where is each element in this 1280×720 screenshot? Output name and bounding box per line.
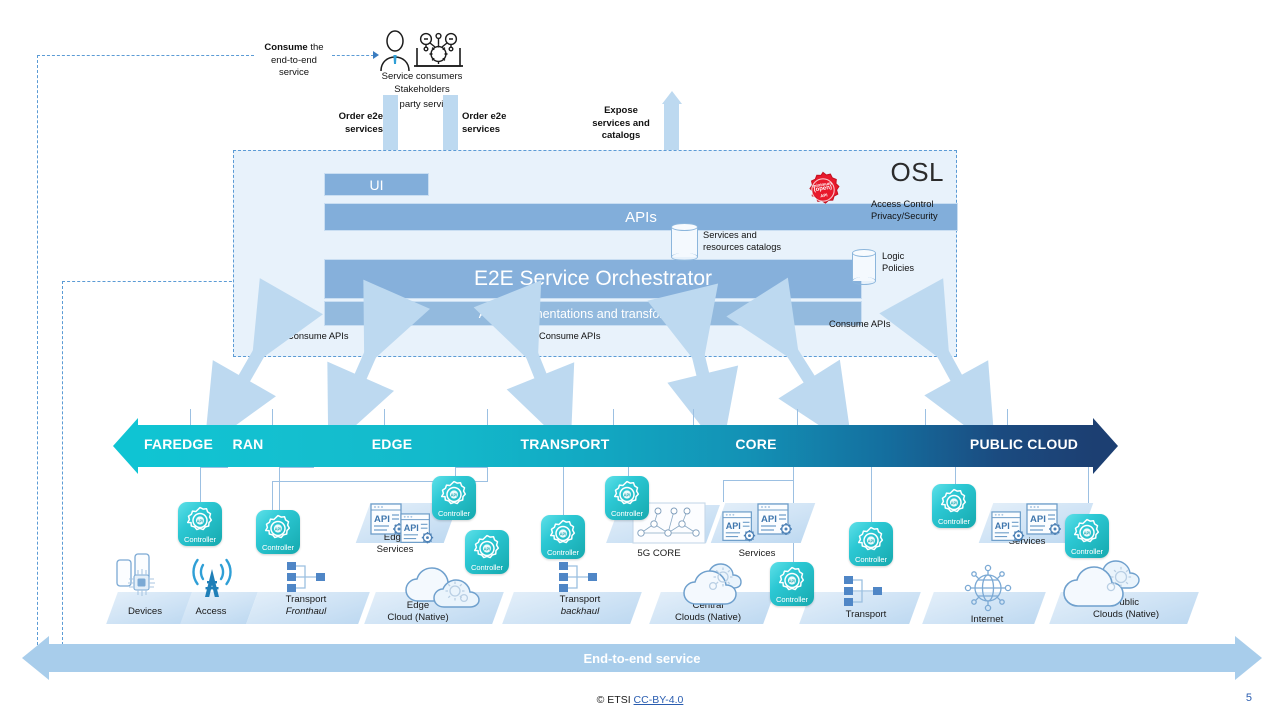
access-control-note: Access Control Privacy/Security (871, 199, 957, 222)
expose-l1: Expose (604, 105, 638, 116)
svg-text:API: API (404, 523, 419, 533)
logic-policies-note: Logic Policies (882, 251, 942, 274)
consume-e2e-l3: service (279, 67, 309, 78)
logic-line1: Logic (882, 251, 904, 261)
connector-h (279, 467, 314, 468)
svg-text:API: API (560, 532, 567, 537)
transport-switch-icon (843, 574, 885, 608)
caption-transport-core: Transport (822, 609, 910, 621)
banner-tick-above (925, 409, 926, 425)
controller-pubcloud-svc[interactable]: API Controller (932, 484, 976, 528)
consume-e2e-label: Consume the end-to-end service (254, 42, 334, 80)
api-service-card-icon: API (1026, 503, 1064, 541)
controller-5g-core[interactable]: API Controller (605, 476, 649, 520)
svg-text:API: API (374, 514, 390, 525)
api-service-card-icon: API (757, 503, 795, 541)
svg-text:API: API (197, 519, 204, 524)
caption-core-services: Services (718, 548, 796, 560)
end-to-end-service-arrow: End-to-end service (22, 636, 1262, 680)
controller-label: Controller (932, 517, 976, 526)
controller-central[interactable]: API Controller (770, 562, 814, 606)
svg-text:API: API (275, 527, 282, 532)
connector-h (487, 467, 488, 482)
footer-copyright: © ETSI (597, 694, 634, 706)
banner-tick-above (190, 409, 191, 425)
domain-label-ran[interactable]: RAN (208, 436, 288, 452)
connector-h (723, 480, 724, 502)
internet-globe-icon (957, 562, 1019, 614)
svg-text:API: API (1084, 531, 1091, 536)
api-service-card-icon: API (400, 513, 436, 549)
apis-bar[interactable]: APIs (324, 203, 958, 231)
caption-transport-fronthaul: TransportFronthaul (256, 594, 356, 618)
controller-label: Controller (432, 509, 476, 518)
controller-label: Controller (465, 563, 509, 572)
domain-banner: FAREDGE RAN EDGE TRANSPORT CORE PUBLIC C… (113, 425, 1118, 467)
controller-edge-svc[interactable]: API Controller (432, 476, 476, 520)
caption-internet: Internet (945, 614, 1029, 626)
svg-text:API: API (868, 539, 875, 544)
service-consumers-icon-group (376, 30, 468, 72)
banner-tick-above (384, 409, 385, 425)
logic-policies-db-icon (852, 249, 876, 285)
service-consumers-caption: Service consumers Stakeholders 3rd party… (355, 71, 489, 112)
domain-label-edge[interactable]: EDGE (352, 436, 432, 452)
connector-h (455, 467, 487, 468)
consume-dashed-horizontal (37, 55, 254, 56)
controller-label: Controller (1065, 547, 1109, 556)
domain-label-public-cloud[interactable]: PUBLIC CLOUD (954, 436, 1094, 452)
consume-e2e-bold: Consume (264, 42, 307, 53)
svg-text:API: API (761, 514, 777, 525)
caption-5g-core: 5G CORE (618, 548, 700, 560)
transport-switch-icon (286, 560, 328, 594)
create-dashed-horizontal (62, 281, 237, 282)
consumers-line2: Stakeholders (394, 84, 449, 95)
connector-h (279, 467, 280, 511)
slide-canvas: Consume the end-to-end service Create th… (0, 0, 1280, 720)
open-api-seal-icon: minimum (open) API (804, 171, 842, 209)
caption-access: Access (182, 606, 240, 618)
footer: © ETSI CC-BY-4.0 (0, 694, 1280, 706)
order-1-l1: Order e2e (339, 111, 383, 122)
consume-apis-label-3: Consume APIs (829, 319, 891, 331)
transport-switch-icon (558, 560, 600, 594)
controller-public-cloud[interactable]: API Controller (1065, 514, 1109, 558)
expose-l3: catalogs (602, 130, 641, 141)
connector-h (723, 480, 794, 481)
connector-h (871, 467, 872, 523)
controller-label: Controller (541, 548, 585, 557)
controller-ran[interactable]: API Controller (178, 502, 222, 546)
access-control-line2: Privacy/Security (871, 211, 938, 221)
api-service-card-icon: API (722, 511, 758, 547)
expose-l2: services and (592, 118, 650, 129)
banner-tick-above (1007, 409, 1008, 425)
domain-label-transport[interactable]: TRANSPORT (505, 436, 625, 452)
controller-label: Controller (605, 509, 649, 518)
banner-tick-above (272, 409, 273, 425)
logic-line2: Policies (882, 263, 914, 273)
consume-dashed-horizontal-2 (332, 55, 374, 56)
expose-label: Expose services and catalogs (583, 105, 659, 143)
connector-h (955, 467, 956, 485)
consume-e2e-l2: end-to-end (271, 55, 317, 66)
osl-panel: OSL UI APIs E2E Service Orchestrator API… (233, 150, 957, 357)
caption-devices: Devices (113, 606, 177, 618)
consume-api-diagonal-arrows (0, 330, 1280, 440)
svg-text:API: API (995, 521, 1010, 531)
controller-core-svc[interactable]: API Controller (849, 522, 893, 566)
public-clouds-icon (1060, 560, 1156, 612)
svg-text:API: API (726, 521, 741, 531)
banner-tick-above (487, 409, 488, 425)
svg-text:API: API (484, 547, 491, 552)
catalogs-line2: resources catalogs (703, 242, 781, 252)
svg-text:API: API (1030, 514, 1046, 525)
e2e-arrow-label: End-to-end service (22, 636, 1262, 680)
access-control-line1: Access Control (871, 199, 934, 209)
ui-bar[interactable]: UI (324, 173, 429, 196)
catalogs-line1: Services and (703, 230, 757, 240)
footer-license-link[interactable]: CC-BY-4.0 (634, 694, 684, 706)
svg-text:API: API (624, 493, 631, 498)
banner-tick-above (613, 409, 614, 425)
banner-tick-above (693, 409, 694, 425)
api-implementations-bar[interactable]: API implementations and transformations (324, 301, 862, 326)
banner-right-tip-icon (1093, 418, 1118, 474)
catalogs-note: Services and resources catalogs (703, 230, 803, 253)
central-clouds-icon (680, 562, 762, 610)
services-resources-catalog-db-icon (671, 223, 698, 261)
svg-text:API: API (451, 493, 458, 498)
api-service-card-icon: API (991, 511, 1027, 547)
controller-fronthaul[interactable]: API Controller (256, 510, 300, 554)
caption-transport-backhaul: Transportbackhaul (530, 594, 630, 618)
controller-backhaul[interactable]: API Controller (541, 515, 585, 559)
order-e2e-label-1: Order e2e services (317, 111, 383, 136)
connector-h (200, 467, 228, 468)
controller-edge-cloud[interactable]: API Controller (465, 530, 509, 574)
controller-label: Controller (770, 595, 814, 604)
svg-text:API: API (951, 501, 958, 506)
connector-h (563, 467, 564, 516)
order-2-l2: services (462, 124, 500, 135)
consume-e2e-rest: the (308, 42, 324, 53)
consumers-line1: Service consumers (382, 71, 463, 82)
controller-label: Controller (256, 543, 300, 552)
page-number: 5 (1246, 692, 1252, 704)
banner-tick-above (797, 409, 798, 425)
controller-label: Controller (849, 555, 893, 564)
svg-text:API: API (789, 579, 796, 584)
order-1-l2: services (345, 124, 383, 135)
order-2-l1: Order e2e (462, 111, 506, 122)
connector-h (200, 467, 201, 503)
devices-icon (114, 548, 174, 596)
expose-arrow-head-icon (662, 91, 682, 104)
order-e2e-label-2: Order e2e services (462, 111, 532, 136)
controller-label: Controller (178, 535, 222, 544)
osl-title: OSL (890, 157, 944, 188)
domain-label-core[interactable]: CORE (716, 436, 796, 452)
seal-line3: API (820, 192, 828, 198)
e2e-service-orchestrator-bar[interactable]: E2E Service Orchestrator (324, 259, 862, 299)
access-antenna-icon (188, 553, 236, 601)
seal-text: minimum (open) API (801, 168, 844, 211)
